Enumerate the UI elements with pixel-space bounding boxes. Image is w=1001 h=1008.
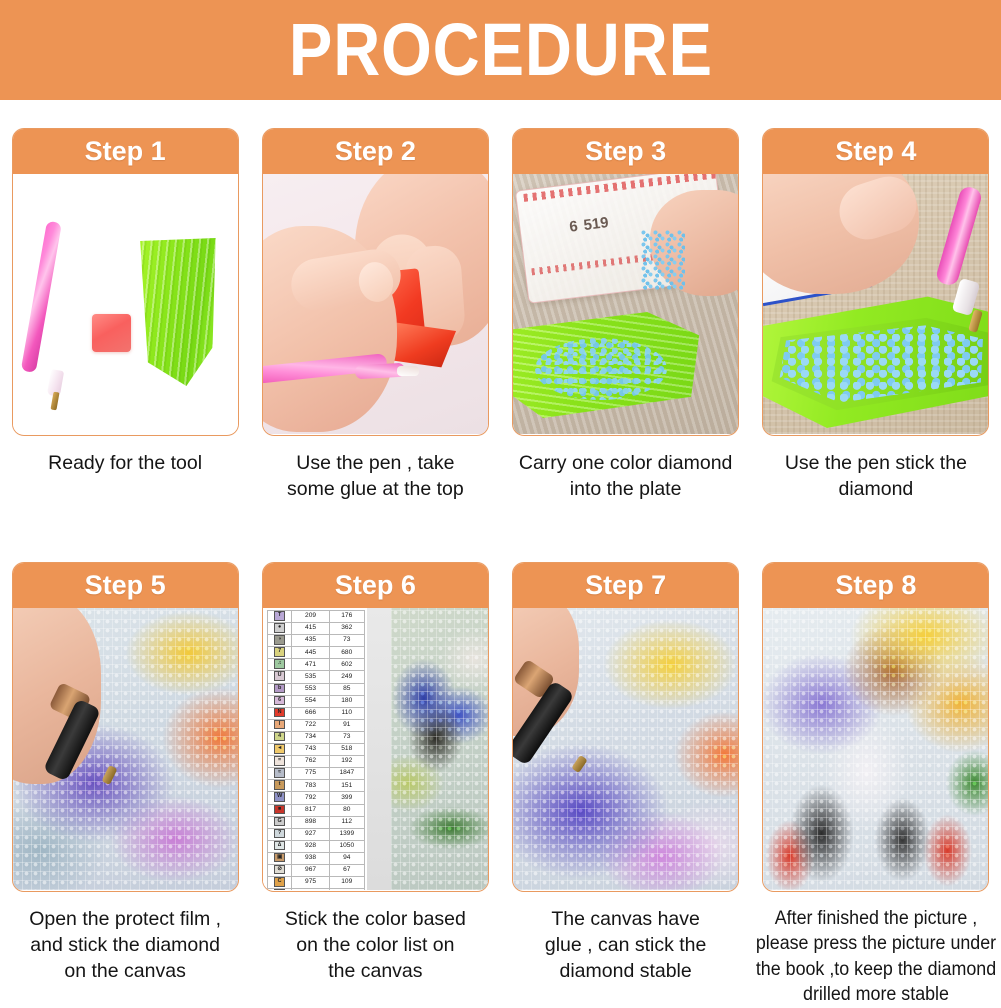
color-list-row: ▣93894 — [267, 852, 364, 864]
color-code-cell: 928 — [292, 840, 329, 852]
step-cell-8: Step 8 After finished the picture , plea… — [751, 562, 1001, 1008]
color-swatch: Y — [274, 889, 285, 890]
color-list-table: T209176●415362◑435737445680♫471602U53524… — [267, 610, 365, 890]
color-list-row: ●415362 — [267, 623, 364, 635]
color-symbol-cell: C — [267, 877, 292, 889]
step-header-label-1: Step 1 — [85, 138, 166, 165]
color-symbol-cell: 6 — [267, 695, 292, 707]
step-cell-1: Step 1 Ready for the tool — [0, 128, 250, 502]
step-header-5: Step 5 — [12, 562, 239, 608]
bag-label-number: 6 — [568, 217, 578, 235]
step-header-label-8: Step 8 — [835, 572, 916, 599]
color-symbol-cell: 4 — [267, 731, 292, 743]
step-header-label-4: Step 4 — [835, 138, 916, 165]
color-swatch: I — [274, 720, 285, 730]
step-card-1[interactable]: Step 1 — [12, 128, 239, 436]
color-symbol-cell: T — [267, 611, 292, 623]
step-header-3: Step 3 — [512, 128, 739, 174]
color-swatch: ◄ — [274, 744, 285, 754]
pouring-diamonds-icon — [641, 230, 685, 290]
color-symbol-cell: ≈ — [267, 768, 292, 780]
color-swatch: ◑ — [274, 635, 285, 645]
color-code-cell: 743 — [292, 744, 329, 756]
color-symbol-cell: ∆ — [267, 840, 292, 852]
color-code-cell: 938 — [292, 852, 329, 864]
color-list-row: N666110 — [267, 707, 364, 719]
step-card-5[interactable]: Step 5 — [12, 562, 239, 892]
step-caption-4: Use the pen stick the diamond — [756, 450, 996, 502]
color-count-cell: 176 — [329, 611, 364, 623]
color-count-cell: 362 — [329, 623, 364, 635]
color-list-row: ■81780 — [267, 804, 364, 816]
color-symbol-cell: t — [267, 780, 292, 792]
color-swatch: t — [274, 780, 285, 790]
color-symbol-cell: U — [267, 671, 292, 683]
red-glue-square-icon — [92, 314, 131, 352]
color-count-cell: 112 — [329, 816, 364, 828]
color-code-cell: 554 — [292, 695, 329, 707]
step-image-5 — [13, 608, 238, 890]
color-count-cell: 399 — [329, 792, 364, 804]
step-card-3[interactable]: Step 3 6 519 — [512, 128, 739, 436]
color-list-row: t783151 — [267, 780, 364, 792]
step-cell-7: Step 7 The canvas have glue , can stick … — [501, 562, 751, 1008]
color-swatch: U — [274, 671, 285, 681]
step-cell-2: Step 2 — [250, 128, 500, 502]
step-image-6: T209176●415362◑435737445680♫471602U53524… — [263, 608, 488, 890]
color-list-row: I72291 — [267, 719, 364, 731]
step-caption-8: After finished the picture , please pres… — [753, 906, 999, 1008]
color-code-cell: 734 — [292, 731, 329, 743]
color-swatch: 6 — [274, 696, 285, 706]
color-symbol-cell: ● — [267, 623, 292, 635]
color-code-cell: 445 — [292, 647, 329, 659]
color-symbol-cell: W — [267, 792, 292, 804]
step-cell-3: Step 3 6 519 Ca — [501, 128, 751, 502]
color-count-cell: 192 — [329, 756, 364, 768]
color-list-table-wrap: T209176●415362◑435737445680♫471602U53524… — [263, 608, 367, 890]
color-code-cell: 967 — [292, 864, 329, 876]
color-list-and-canvas: T209176●415362◑435737445680♫471602U53524… — [263, 608, 488, 890]
color-symbol-cell: b — [267, 683, 292, 695]
color-swatch: ≈ — [274, 768, 285, 778]
color-list-row: 7445680 — [267, 647, 364, 659]
color-code-cell: 775 — [292, 768, 329, 780]
color-count-cell: 85 — [329, 683, 364, 695]
color-count-cell: 67 — [329, 864, 364, 876]
blue-diamonds-icon — [535, 338, 667, 400]
step-card-2[interactable]: Step 2 — [262, 128, 489, 436]
page-title: PROCEDURE — [288, 13, 712, 87]
color-swatch: ■ — [274, 805, 285, 815]
color-list-row: ◑43573 — [267, 635, 364, 647]
color-list-row: U535249 — [267, 671, 364, 683]
step-cell-6: Step 6 T209176●415362◑435737445680♫47160… — [250, 562, 500, 1008]
step-caption-3: Carry one color diamond into the plate — [506, 450, 746, 502]
color-count-cell: 1399 — [329, 828, 364, 840]
color-code-cell: 898 — [292, 816, 329, 828]
color-code-cell: 762 — [292, 756, 329, 768]
diamond-grid — [391, 608, 488, 890]
step-image-7 — [513, 608, 738, 890]
step-image-4 — [763, 174, 988, 434]
color-count-cell: 680 — [329, 647, 364, 659]
color-list-row: ◄743518 — [267, 744, 364, 756]
color-symbol-cell: G — [267, 816, 292, 828]
color-count-cell: 73 — [329, 635, 364, 647]
diamond-canvas — [391, 608, 488, 890]
step-cell-5: Step 5 Open the protect film , and stick… — [0, 562, 250, 1008]
color-symbol-cell: ◄ — [267, 744, 292, 756]
color-symbol-cell: ■ — [267, 804, 292, 816]
page-banner: PROCEDURE — [0, 0, 1001, 100]
color-count-cell: 1847 — [329, 768, 364, 780]
step-header-label-2: Step 2 — [335, 138, 416, 165]
step-card-7[interactable]: Step 7 — [512, 562, 739, 892]
color-code-cell: 435 — [292, 635, 329, 647]
color-swatch: ∆ — [274, 841, 285, 851]
step-header-label-7: Step 7 — [585, 572, 666, 599]
color-swatch: ● — [274, 623, 285, 633]
steps-row-top: Step 1 Ready for the tool Step 2 — [0, 128, 1001, 502]
green-tray-ribs-icon — [139, 238, 216, 386]
color-swatch: C — [274, 877, 285, 887]
color-list-row: ?9271399 — [267, 828, 364, 840]
color-count-cell: 602 — [329, 659, 364, 671]
color-code-cell: 209 — [292, 611, 329, 623]
color-swatch: ♫ — [274, 659, 285, 669]
step-header-label-5: Step 5 — [85, 572, 166, 599]
diamond-grid — [763, 608, 988, 890]
color-swatch: ⊘ — [274, 865, 285, 875]
color-code-cell: 3013 — [292, 889, 329, 890]
color-list-row: C975109 — [267, 877, 364, 889]
step-card-8[interactable]: Step 8 — [762, 562, 989, 892]
step-header-7: Step 7 — [512, 562, 739, 608]
step-caption-7: The canvas have glue , can stick the dia… — [506, 906, 746, 984]
color-symbol-cell: ◑ — [267, 635, 292, 647]
color-symbol-cell: Y — [267, 889, 292, 890]
color-symbol-cell: I — [267, 719, 292, 731]
color-code-cell: 666 — [292, 707, 329, 719]
color-list-row: 6554180 — [267, 695, 364, 707]
color-list-row: T209176 — [267, 611, 364, 623]
color-list-row: ⊘96767 — [267, 864, 364, 876]
color-count-cell: 1050 — [329, 840, 364, 852]
color-code-cell: 927 — [292, 828, 329, 840]
color-code-cell: 535 — [292, 671, 329, 683]
color-symbol-cell: 7 — [267, 647, 292, 659]
step-caption-6: Stick the color based on the color list … — [255, 906, 495, 984]
color-count-cell: 180 — [329, 695, 364, 707]
color-symbol-cell: N — [267, 707, 292, 719]
color-count-cell: 151 — [329, 780, 364, 792]
step-header-label-6: Step 6 — [335, 572, 416, 599]
color-code-cell: 975 — [292, 877, 329, 889]
color-swatch: 4 — [274, 732, 285, 742]
color-swatch: b — [274, 684, 285, 694]
step2-photo — [263, 174, 488, 434]
color-count-cell: 249 — [329, 671, 364, 683]
color-code-cell: 553 — [292, 683, 329, 695]
step-caption-1: Ready for the tool — [5, 450, 245, 476]
color-code-cell: 722 — [292, 719, 329, 731]
steps-grid: Step 1 Ready for the tool Step 2 — [0, 100, 1001, 1001]
step-image-3: 6 519 — [513, 174, 738, 434]
step-header-6: Step 6 — [262, 562, 489, 608]
color-swatch: 7 — [274, 647, 285, 657]
color-symbol-cell: ▣ — [267, 852, 292, 864]
color-list-row: b55385 — [267, 683, 364, 695]
color-symbol-cell: ⊘ — [267, 864, 292, 876]
color-count-cell: 91 — [329, 719, 364, 731]
color-code-cell: 471 — [292, 659, 329, 671]
color-count-cell: 94 — [329, 852, 364, 864]
color-symbol-cell: ♫ — [267, 659, 292, 671]
color-swatch: G — [274, 817, 285, 827]
color-count-cell: 73 — [329, 731, 364, 743]
color-list-row: G898112 — [267, 816, 364, 828]
bag-label-code: 519 — [583, 214, 610, 234]
pink-pen-icon — [20, 221, 61, 373]
color-list-body: T209176●415362◑435737445680♫471602U53524… — [267, 611, 364, 891]
step-image-8 — [763, 608, 988, 890]
color-list-row: W792399 — [267, 792, 364, 804]
color-count-cell: 526 — [329, 889, 364, 890]
step-header-2: Step 2 — [262, 128, 489, 174]
step-header-1: Step 1 — [12, 128, 239, 174]
step-image-1 — [13, 174, 238, 434]
color-code-cell: 817 — [292, 804, 329, 816]
color-swatch: ? — [274, 829, 285, 839]
color-count-cell: 109 — [329, 877, 364, 889]
color-list-row: ≈7751847 — [267, 768, 364, 780]
color-count-cell: 110 — [329, 707, 364, 719]
step-image-2 — [263, 174, 488, 434]
color-code-cell: 783 — [292, 780, 329, 792]
pen-tip-icon — [397, 366, 419, 376]
color-swatch: = — [274, 756, 285, 766]
color-symbol-cell: = — [267, 756, 292, 768]
color-code-cell: 792 — [292, 792, 329, 804]
color-list-row: =762192 — [267, 756, 364, 768]
step-card-6[interactable]: Step 6 T209176●415362◑435737445680♫47160… — [262, 562, 489, 892]
color-list-row: ♫471602 — [267, 659, 364, 671]
color-list-row: ∆9281050 — [267, 840, 364, 852]
step-card-4[interactable]: Step 4 — [762, 128, 989, 436]
step-header-8: Step 8 — [762, 562, 989, 608]
step-header-label-3: Step 3 — [585, 138, 666, 165]
color-swatch: W — [274, 792, 285, 802]
color-symbol-cell: ? — [267, 828, 292, 840]
color-list-row: Y3013526 — [267, 889, 364, 890]
step-cell-4: Step 4 Use the pen stick the diamond — [751, 128, 1001, 502]
step-caption-5: Open the protect film , and stick the di… — [5, 906, 245, 984]
steps-row-bottom: Step 5 Open the protect film , and stick… — [0, 562, 1001, 1008]
step-caption-2: Use the pen , take some glue at the top — [255, 450, 495, 502]
color-swatch: N — [274, 708, 285, 718]
color-count-cell: 518 — [329, 744, 364, 756]
color-list-row: 473473 — [267, 731, 364, 743]
color-count-cell: 80 — [329, 804, 364, 816]
table-canvas-gap — [367, 608, 391, 890]
color-code-cell: 415 — [292, 623, 329, 635]
color-swatch: ▣ — [274, 853, 285, 863]
color-swatch: T — [274, 611, 285, 621]
step-header-4: Step 4 — [762, 128, 989, 174]
